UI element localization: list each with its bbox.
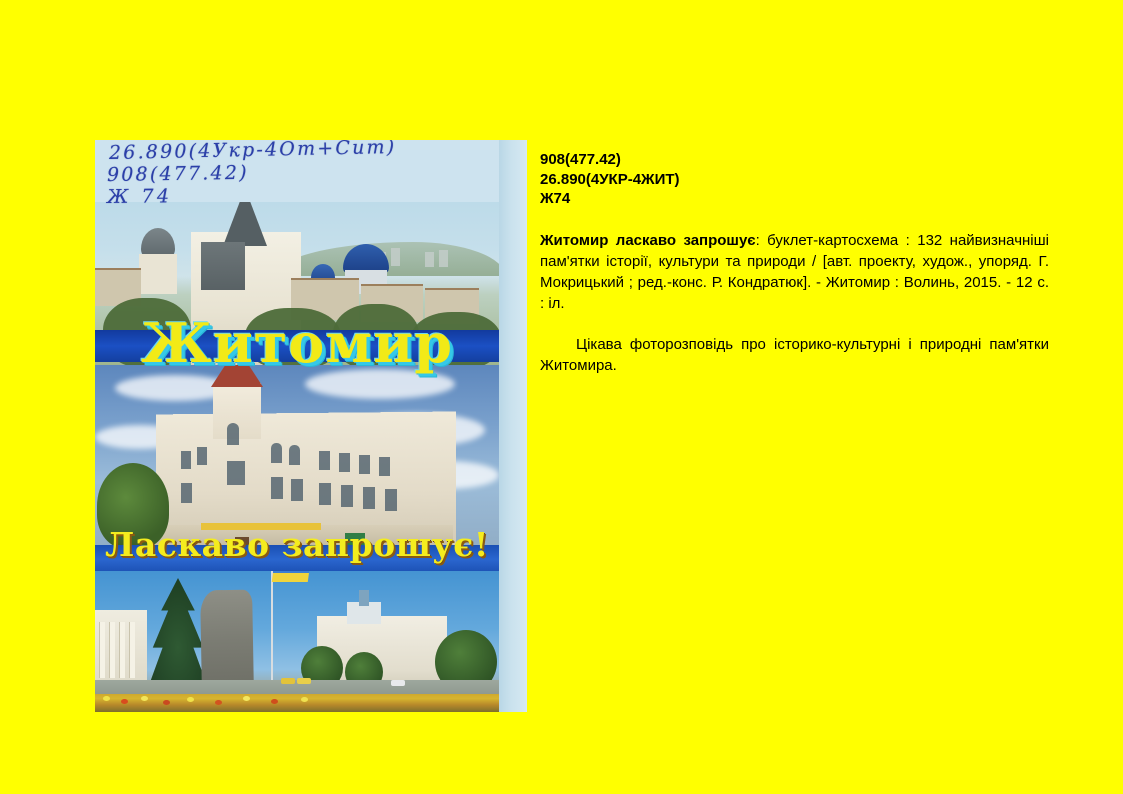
window (379, 457, 390, 476)
window (271, 477, 283, 499)
flowerbed (95, 694, 499, 712)
author-mark: Ж74 (540, 189, 1049, 209)
flower (163, 700, 170, 705)
parked-vehicle (391, 680, 405, 686)
flower (301, 697, 308, 702)
cover-photo-city-square (95, 560, 499, 712)
column (109, 622, 115, 678)
column (129, 622, 135, 678)
distant-building (425, 252, 434, 267)
window (319, 483, 331, 505)
handwritten-note-1: 26.890(4Укр-4От+Сит) (109, 140, 397, 164)
handwritten-notes-area: 26.890(4Укр-4От+Сит) 908(477.42) Ж 74 (95, 140, 527, 202)
column (119, 622, 125, 678)
window (197, 447, 207, 465)
handwritten-note-2: 908(477.42) (107, 162, 249, 186)
record-title: Житомир ласкаво запрошує (540, 232, 756, 249)
parked-vehicle (297, 678, 311, 684)
record-annotation: Цікава фоторозповідь про історико-культу… (540, 334, 1049, 376)
flower (243, 696, 250, 701)
window (385, 489, 397, 511)
window (227, 423, 239, 445)
cover-slogan: Ласкаво запрошує! (95, 528, 499, 561)
flower (271, 699, 278, 704)
cathedral-dome-drum (139, 254, 177, 294)
window (319, 451, 330, 470)
window (363, 487, 375, 509)
flower (187, 697, 194, 702)
record-description: Житомир ласкаво запрошує: буклет-картосх… (540, 230, 1049, 314)
flower (121, 699, 128, 704)
cover-paper-margin (499, 140, 527, 712)
window (181, 451, 191, 469)
cathedral-bell-tower (201, 242, 245, 290)
call-numbers-block: 908(477.42) 26.890(4УКР-4ЖИТ) Ж74 (540, 150, 1049, 209)
flower (141, 696, 148, 701)
call-number-udc: 908(477.42) (540, 150, 1049, 170)
flower (103, 696, 110, 701)
cover-title: Житомир (95, 316, 499, 370)
administration-building-tower (359, 590, 369, 606)
window (341, 485, 353, 507)
bibliographic-record: 908(477.42) 26.890(4УКР-4ЖИТ) Ж74 Житоми… (540, 150, 1049, 376)
window (271, 443, 282, 463)
flagpole (271, 566, 273, 682)
window (359, 455, 370, 474)
distant-building (439, 250, 448, 267)
book-cover-image: Житомир Ласкаво запрошує! (95, 140, 527, 712)
column (99, 622, 105, 678)
window (289, 445, 300, 465)
call-number-bbk: 26.890(4УКР-4ЖИТ) (540, 170, 1049, 190)
window (181, 483, 192, 503)
parked-vehicle (281, 678, 295, 684)
window (227, 461, 245, 485)
distant-building (391, 248, 400, 266)
monument-statue (200, 590, 254, 693)
window (339, 453, 350, 472)
flower (215, 700, 222, 705)
handwritten-note-3: Ж 74 (107, 185, 173, 208)
window (291, 479, 303, 501)
